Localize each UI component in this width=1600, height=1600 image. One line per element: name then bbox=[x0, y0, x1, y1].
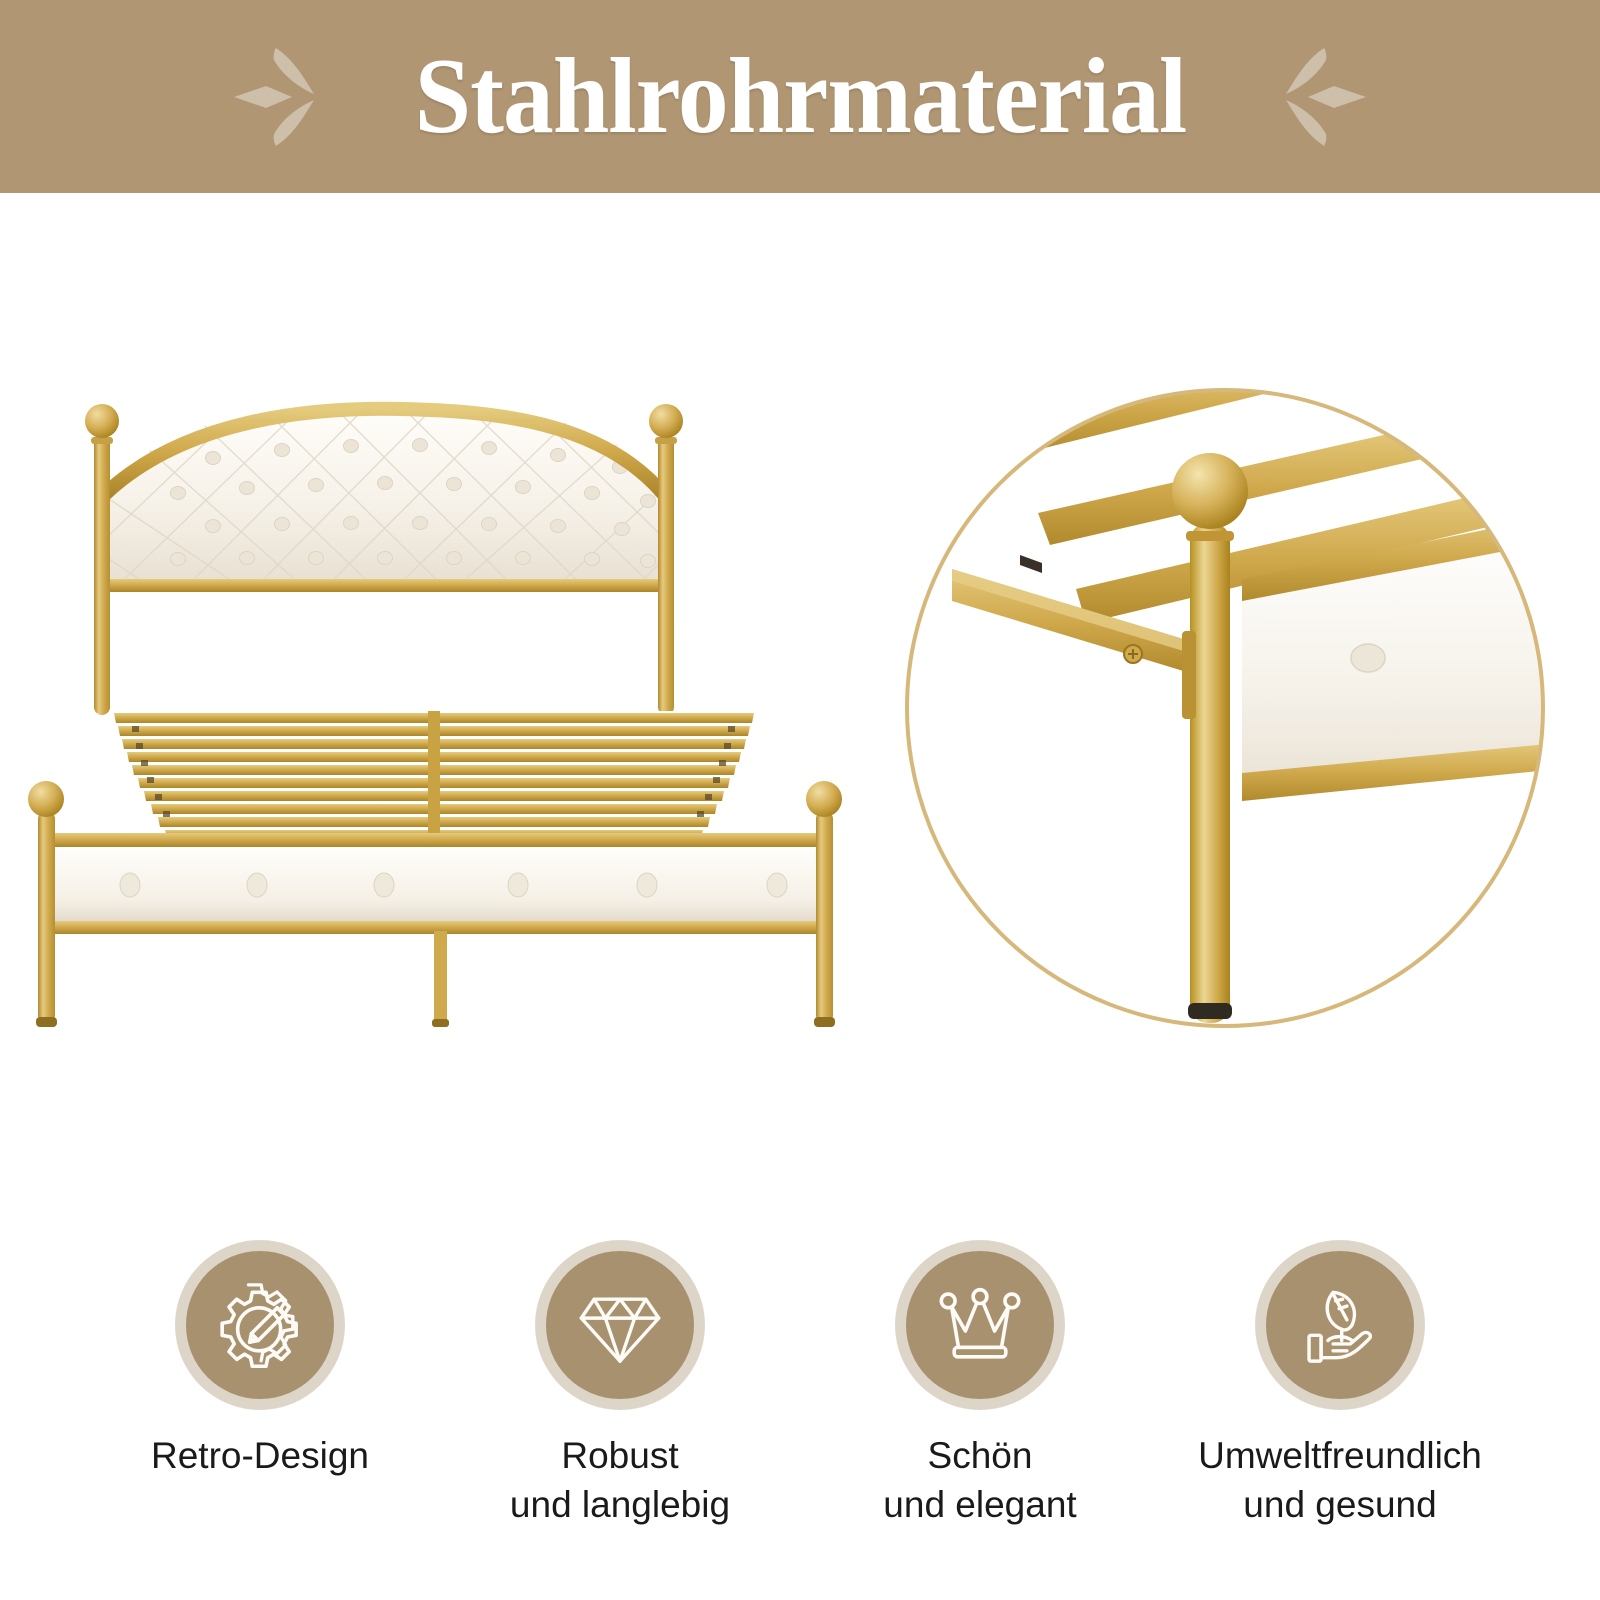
badge-fill bbox=[186, 1251, 334, 1399]
badge-fill bbox=[1266, 1251, 1414, 1399]
feature-list: Retro-Design Robust und langlebig bbox=[0, 1240, 1600, 1580]
headboard-post-right bbox=[658, 435, 674, 715]
headboard-bottom-rail bbox=[96, 579, 672, 592]
finial-head-left bbox=[85, 404, 119, 438]
detail-finial bbox=[1172, 453, 1248, 529]
headboard-post-left bbox=[94, 435, 110, 715]
center-leg bbox=[434, 931, 447, 1023]
product-showcase bbox=[0, 193, 1600, 1223]
footboard-top-rail bbox=[40, 833, 830, 847]
badge-ring bbox=[1255, 1240, 1425, 1410]
feature-label: Retro-Design bbox=[151, 1432, 369, 1481]
finial-foot-right bbox=[806, 781, 842, 817]
detail-bracket bbox=[1182, 631, 1196, 719]
center-support-beam bbox=[428, 711, 440, 839]
badge-fill bbox=[546, 1251, 694, 1399]
feature-item-robust: Robust und langlebig bbox=[440, 1240, 800, 1530]
badge-ring bbox=[175, 1240, 345, 1410]
detail-tuft-button bbox=[1351, 644, 1385, 672]
feature-label: Schön und elegant bbox=[883, 1432, 1076, 1530]
header-banner: Stahlrohrmaterial bbox=[0, 0, 1600, 193]
foot-post-left bbox=[38, 811, 55, 1023]
bed-frame-image bbox=[10, 393, 860, 1073]
feature-item-retro-design: Retro-Design bbox=[80, 1240, 440, 1481]
feature-item-eco: Umweltfreundlich und gesund bbox=[1160, 1240, 1520, 1530]
feature-label: Umweltfreundlich und gesund bbox=[1198, 1432, 1482, 1530]
crown-icon bbox=[937, 1282, 1023, 1368]
foot-post-right bbox=[816, 811, 833, 1023]
detail-corner-post bbox=[1190, 523, 1230, 1023]
detail-closeup-image bbox=[890, 373, 1560, 1043]
detail-foot-cap bbox=[1188, 1003, 1232, 1019]
detail-content bbox=[890, 373, 1560, 1043]
feature-item-elegant: Schön und elegant bbox=[800, 1240, 1160, 1530]
badge-fill bbox=[906, 1251, 1054, 1399]
flourish-right-icon bbox=[1256, 42, 1380, 152]
footboard-panel bbox=[44, 848, 826, 923]
foot-cap-left bbox=[36, 1017, 57, 1027]
badge-ring bbox=[535, 1240, 705, 1410]
feature-label: Robust und langlebig bbox=[510, 1432, 730, 1530]
slat-platform bbox=[110, 711, 758, 839]
foot-cap-right bbox=[814, 1017, 835, 1027]
gear-pencil-icon bbox=[217, 1282, 303, 1368]
finial-head-right bbox=[649, 404, 683, 438]
flourish-left-icon bbox=[220, 42, 344, 152]
badge-ring bbox=[895, 1240, 1065, 1410]
finial-foot-left bbox=[28, 781, 64, 817]
page-title: Stahlrohrmaterial bbox=[414, 43, 1186, 151]
diamond-icon bbox=[577, 1282, 663, 1368]
hand-plant-icon bbox=[1297, 1282, 1383, 1368]
